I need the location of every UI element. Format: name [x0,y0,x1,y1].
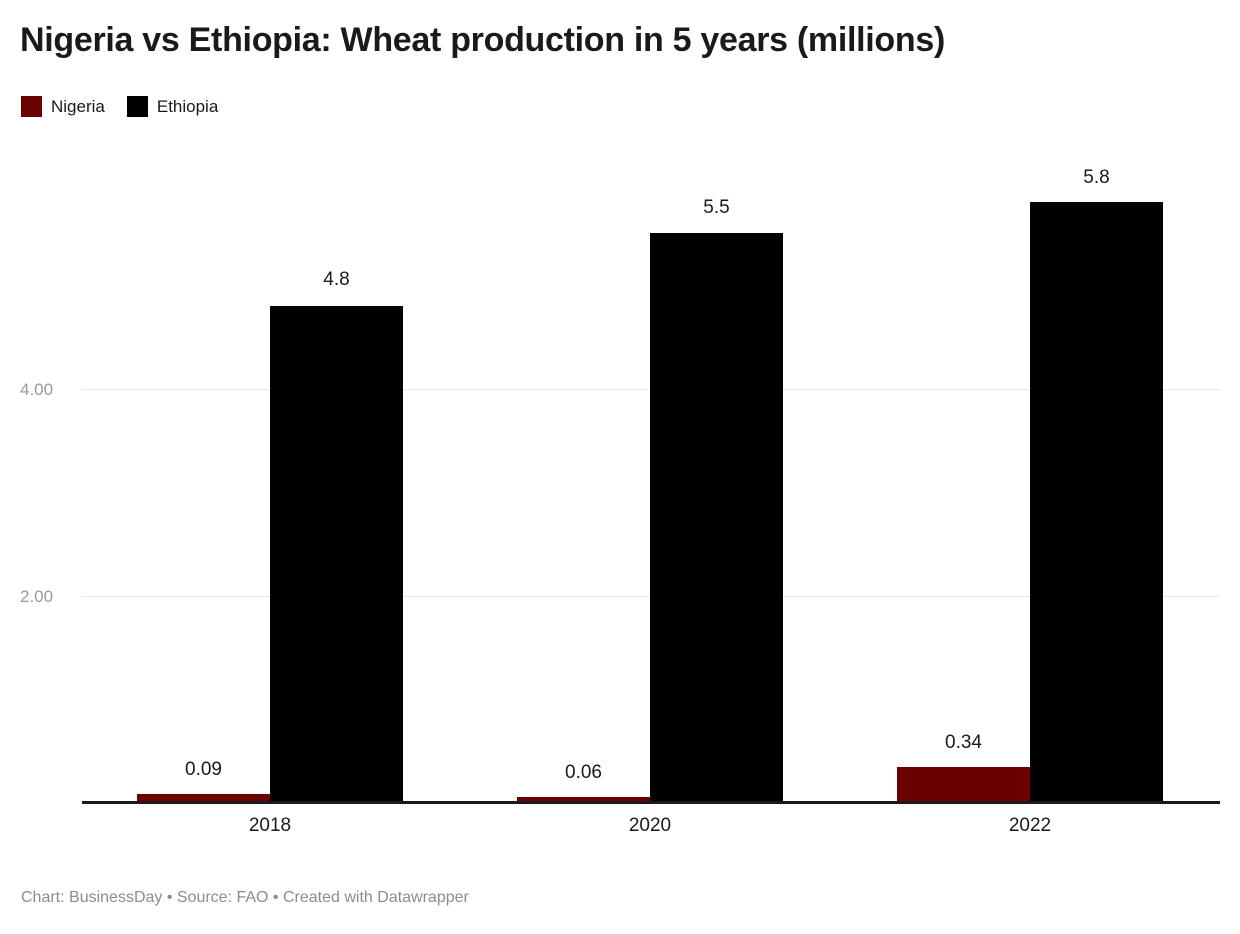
bar-value-ethiopia-2018: 4.8 [270,270,403,289]
bar-value-ethiopia-2020: 5.5 [650,198,783,217]
xtick-label-2022: 2022 [897,816,1163,835]
plot-area: 4.00 2.00 0.09 4.8 2018 0.06 5.5 2020 0.… [0,0,1240,934]
bar-ethiopia-2022[interactable] [1030,202,1163,803]
axis-baseline [82,801,1220,804]
ytick-label-2: 2.00 [20,588,75,605]
bar-value-nigeria-2018: 0.09 [137,760,270,779]
ytick-label-4: 4.00 [20,381,75,398]
bar-ethiopia-2020[interactable] [650,233,783,803]
xtick-label-2018: 2018 [137,816,403,835]
chart-credit: Chart: BusinessDay • Source: FAO • Creat… [21,889,469,907]
bar-ethiopia-2018[interactable] [270,306,403,803]
bar-value-ethiopia-2022: 5.8 [1030,168,1163,187]
bar-value-nigeria-2020: 0.06 [517,763,650,782]
bar-value-nigeria-2022: 0.34 [897,733,1030,752]
xtick-label-2020: 2020 [517,816,783,835]
bar-nigeria-2022[interactable] [897,767,1030,803]
